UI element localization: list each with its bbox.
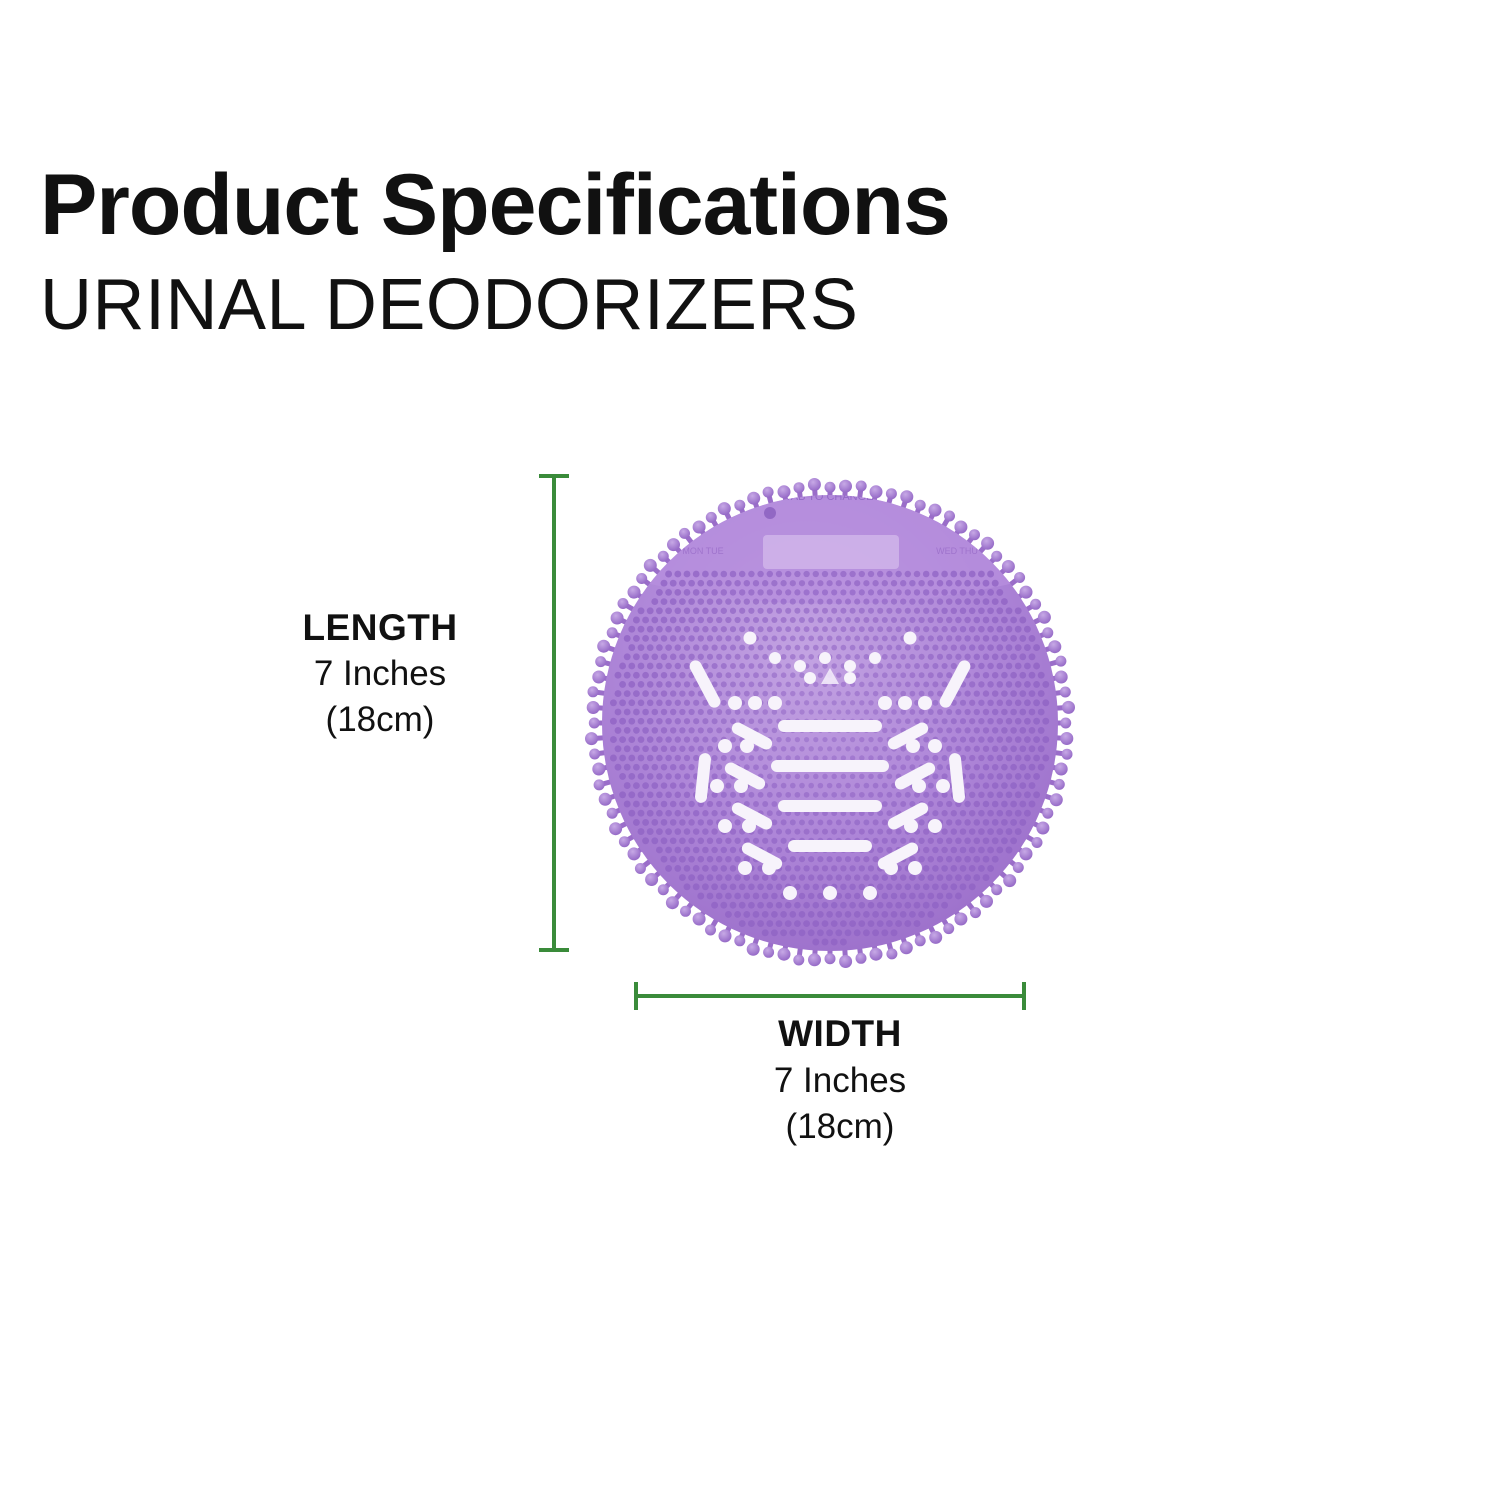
length-measure-line bbox=[552, 474, 556, 952]
width-metric: (18cm) bbox=[680, 1104, 1000, 1150]
top-band: PULL TAB TO CHANGE DATE MON TUE WED THU bbox=[625, 491, 1035, 604]
width-measure-cap-right bbox=[1022, 982, 1026, 1010]
width-measure-cap-left bbox=[634, 982, 638, 1010]
length-label-group: LENGTH 7 Inches (18cm) bbox=[245, 605, 515, 742]
length-measure-cap-top bbox=[539, 474, 569, 478]
length-measure-cap-bottom bbox=[539, 948, 569, 952]
page-title: Product Specifications bbox=[40, 160, 1460, 250]
heading-block: Product Specifications URINAL DEODORIZER… bbox=[40, 160, 1460, 347]
embossed-text-left: MON TUE bbox=[682, 546, 723, 556]
page-subtitle: URINAL DEODORIZERS bbox=[40, 264, 1460, 347]
product-image: PULL TAB TO CHANGE DATE MON TUE WED THU bbox=[585, 478, 1075, 968]
urinal-screen-graphic: PULL TAB TO CHANGE DATE MON TUE WED THU bbox=[585, 478, 1075, 968]
width-measure-line bbox=[634, 994, 1026, 998]
width-value: 7 Inches bbox=[680, 1058, 1000, 1104]
width-label: WIDTH bbox=[680, 1010, 1000, 1058]
pin-hole bbox=[764, 507, 776, 519]
length-value: 7 Inches bbox=[245, 651, 515, 697]
embossed-text-right: WED THU bbox=[936, 546, 978, 556]
length-label: LENGTH bbox=[245, 605, 515, 651]
length-metric: (18cm) bbox=[245, 697, 515, 743]
page-root: Product Specifications URINAL DEODORIZER… bbox=[0, 0, 1500, 1500]
width-label-group: WIDTH 7 Inches (18cm) bbox=[680, 1010, 1000, 1150]
date-plate bbox=[763, 535, 899, 569]
